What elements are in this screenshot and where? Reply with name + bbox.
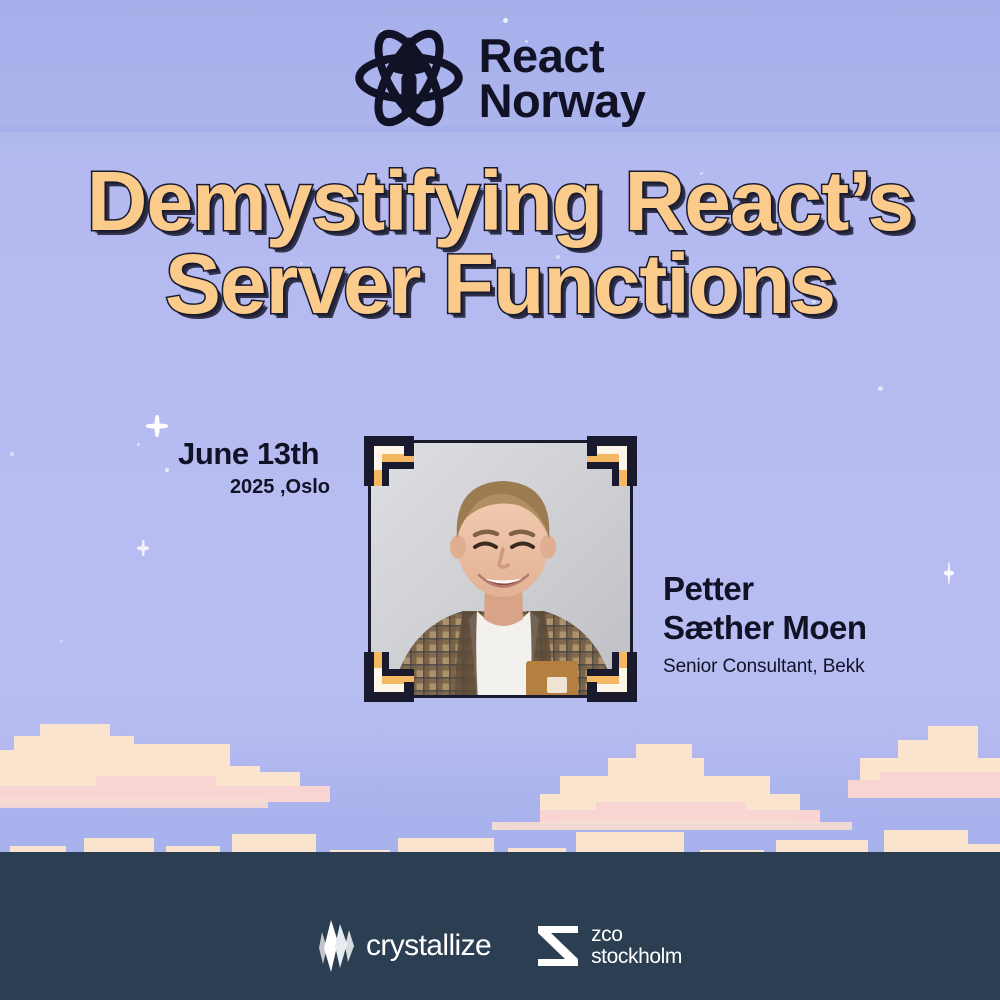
react-atom-viking-icon (355, 24, 463, 132)
star-dot (878, 386, 883, 391)
speaker-photo-frame (368, 440, 633, 698)
event-poster: React Norway Demystifying React’s Server… (0, 0, 1000, 1000)
sky-band (0, 132, 1000, 146)
star-sparkle (146, 415, 168, 437)
react-norway-logo: React Norway (0, 24, 1000, 132)
sponsor-zco-line1: zco (591, 924, 682, 946)
cloud-layer-upper (0, 724, 1000, 830)
logo-word-line1: React (479, 33, 646, 78)
sponsor-zco-label: zco stockholm (591, 924, 682, 969)
event-date: June 13th 2025 ,Oslo (178, 436, 330, 499)
title-line-1: Demystifying React’s (0, 160, 1000, 243)
sponsor-crystallize-label: crystallize (366, 931, 491, 961)
sponsor-row: crystallize zco stockholm (0, 918, 1000, 974)
event-year-location: 2025 ,Oslo (178, 476, 330, 499)
sponsor-crystallize[interactable]: crystallize (318, 918, 491, 974)
frame-corner-icon (358, 646, 420, 708)
page-title: Demystifying React’s Server Functions (0, 160, 1000, 326)
speaker-role: Senior Consultant, Bekk (663, 656, 867, 678)
crystal-icon (318, 918, 356, 974)
sponsor-zco-stockholm[interactable]: zco stockholm (535, 920, 682, 972)
speaker-info: Petter Sæther Moen Senior Consultant, Be… (663, 570, 867, 678)
star-dot (10, 452, 14, 456)
z-mark-icon (535, 920, 581, 972)
frame-corner-icon (581, 646, 643, 708)
star-sparkle (137, 540, 149, 556)
speaker-first-name: Petter (663, 570, 867, 609)
star-sparkle (944, 562, 954, 584)
logo-word-line2: Norway (479, 78, 646, 123)
speaker-last-name: Sæther Moen (663, 609, 867, 648)
frame-corner-icon (581, 430, 643, 492)
star-dot (60, 640, 63, 643)
logo-wordmark: React Norway (479, 33, 646, 123)
sponsor-zco-line2: stockholm (591, 946, 682, 968)
title-line-2: Server Functions (0, 243, 1000, 326)
star-dot (503, 18, 508, 23)
frame-corner-icon (358, 430, 420, 492)
event-date-day: June 13th (178, 436, 330, 472)
star-dot (137, 443, 140, 446)
star-dot (165, 468, 169, 472)
